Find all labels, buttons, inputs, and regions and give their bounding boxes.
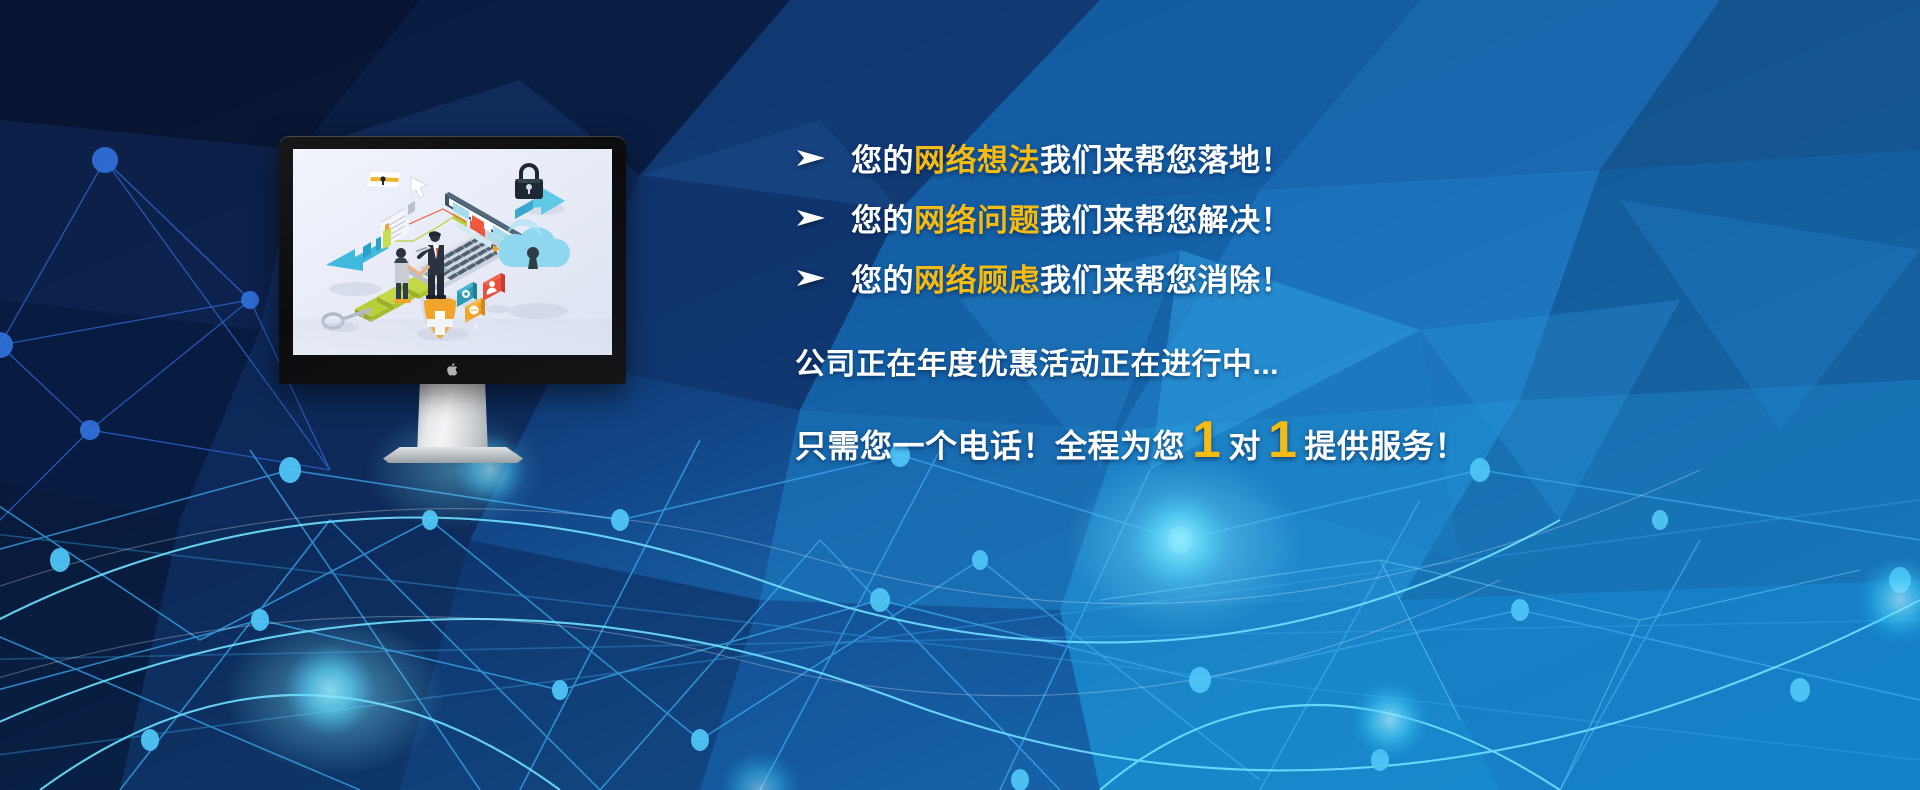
display-monitor <box>279 136 626 384</box>
cta-line: 只需您一个电话！全程为您 1 对 1 提供服务！ <box>795 421 1467 467</box>
cta-part1: 只需您一个电话！全程为您 <box>795 421 1185 467</box>
bullet-prefix: 您的 <box>851 143 914 178</box>
bullet-row: 您的网络想法我们来帮您落地！ <box>795 128 1467 187</box>
monitor-base <box>383 447 523 463</box>
bullet-prefix: 您的 <box>851 203 914 238</box>
isometric-network-security-illustration <box>293 149 612 355</box>
bullet-highlight: 网络顾虑 <box>914 263 1040 298</box>
bullet-suffix: 我们来帮您消除！ <box>1040 263 1292 298</box>
promo-banner: 您的网络想法我们来帮您落地！ 您的网络问题我们来帮您解决！ 您的网络顾虑我们来帮… <box>0 0 1920 790</box>
bullet-suffix: 我们来帮您落地！ <box>1040 143 1292 178</box>
promo-line: 公司正在年度优惠活动正在进行中... <box>795 339 1467 383</box>
bullet-text: 您的网络顾虑我们来帮您消除！ <box>851 255 1292 300</box>
bullet-suffix: 我们来帮您解决！ <box>1040 203 1292 238</box>
cta-part2: 提供服务！ <box>1304 421 1467 467</box>
apple-logo-icon <box>447 363 458 376</box>
bullet-text: 您的网络问题我们来帮您解决！ <box>851 195 1292 240</box>
arrow-bullet-icon <box>795 208 829 228</box>
bullet-prefix: 您的 <box>851 263 914 298</box>
arrow-bullet-icon <box>795 268 829 288</box>
bullet-row: 您的网络问题我们来帮您解决！ <box>795 188 1467 247</box>
bullet-text: 您的网络想法我们来帮您落地！ <box>851 135 1292 180</box>
arrow-bullet-icon <box>795 148 829 168</box>
bullet-row: 您的网络顾虑我们来帮您消除！ <box>795 248 1467 307</box>
monitor-chin <box>279 355 626 384</box>
bullet-highlight: 网络想法 <box>914 143 1040 178</box>
monitor-screen <box>293 149 612 355</box>
marketing-copy: 您的网络想法我们来帮您落地！ 您的网络问题我们来帮您解决！ 您的网络顾虑我们来帮… <box>795 128 1467 467</box>
monitor-stand <box>417 383 488 455</box>
ticket-key-icon <box>367 172 401 187</box>
cta-middle: 对 <box>1228 421 1261 467</box>
bullet-highlight: 网络问题 <box>914 203 1040 238</box>
